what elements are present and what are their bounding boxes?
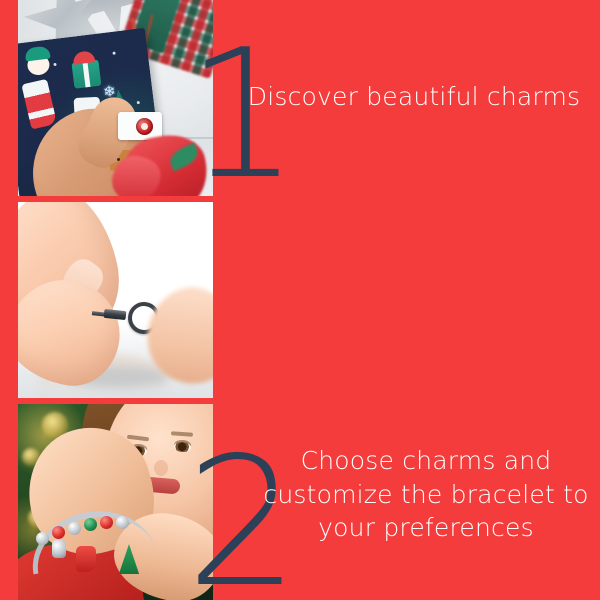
caption-line: customize the bracelet to — [258, 478, 594, 512]
bracelet-bead — [84, 518, 97, 531]
step-1: ❄ ❄ ❄ 1 Discover beauti — [0, 0, 600, 196]
girl-wearing-bracelet-photo — [18, 404, 213, 600]
bracelet-bead — [36, 532, 49, 545]
advent-calendar-charm-photo: ❄ ❄ ❄ — [18, 0, 213, 196]
snow-dot — [112, 52, 115, 55]
bracelet-bead — [100, 516, 113, 529]
step-2: 2 Choose charms and customize the bracel… — [0, 202, 600, 398]
step-number-1: 1 — [186, 26, 297, 204]
caption-line: Choose charms and — [258, 444, 594, 478]
stocking-graphic — [21, 79, 57, 130]
bracelet-bead — [52, 526, 65, 539]
snow-dot — [137, 101, 140, 104]
bracelet-bead — [68, 522, 81, 535]
caption-line: your preferences — [258, 511, 594, 545]
promo-poster: ❄ ❄ ❄ 1 Discover beauti — [0, 0, 600, 600]
silver-charm-dangle — [52, 540, 66, 558]
bracelet-bead — [116, 516, 129, 529]
red-charm-bead — [136, 118, 153, 135]
snow-dot — [53, 63, 56, 66]
step-2-caption: Choose charms and customize the bracelet… — [258, 444, 594, 545]
stocking-charm-dangle — [76, 546, 96, 572]
caption-line: Discover beautiful charms — [236, 80, 592, 114]
nose — [154, 460, 168, 476]
clasp-jump-ring-photo — [18, 202, 213, 398]
step-1-caption: Discover beautiful charms — [236, 80, 592, 114]
